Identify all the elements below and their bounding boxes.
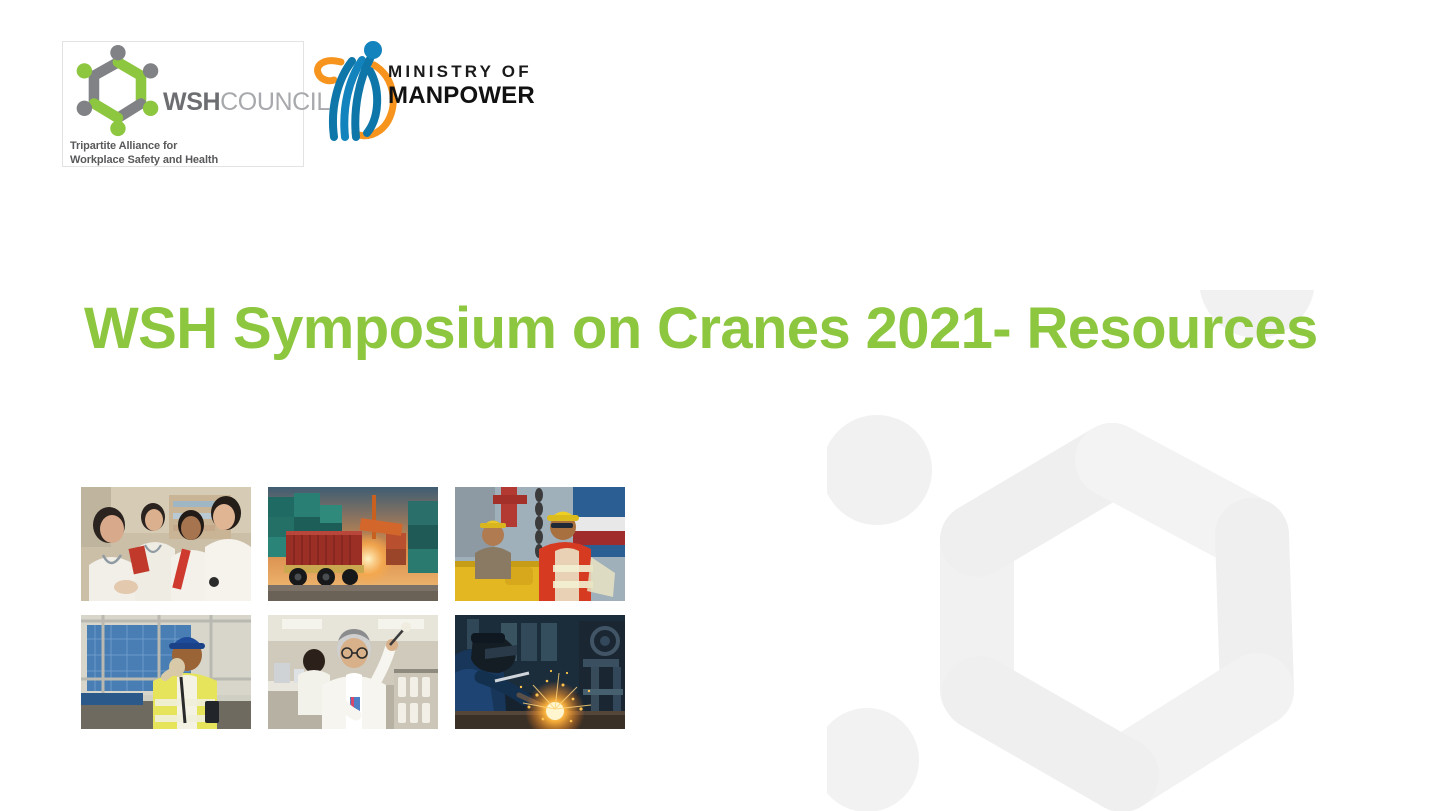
- photo-construction-worker: [81, 615, 251, 729]
- wsh-tagline-line-2: Workplace Safety and Health: [70, 153, 218, 167]
- photo-welder-sparks: [455, 615, 625, 729]
- ministry-of-manpower-logo: MINISTRY OF MANPOWER: [310, 41, 540, 145]
- wsh-council-logo: WSHCOUNCIL Tripartite Alliance for Workp…: [62, 41, 304, 167]
- photo-shipping-containers: [268, 487, 438, 601]
- photo-grid: [81, 487, 625, 729]
- slide-title: WSH Symposium on Cranes 2021- Resources: [84, 295, 1318, 362]
- wsh-tagline-line-1: Tripartite Alliance for: [70, 139, 218, 153]
- mom-wordmark: MINISTRY OF MANPOWER: [388, 63, 535, 108]
- wsh-hexagon-mark-icon: [69, 44, 165, 140]
- wsh-hexagon-watermark: [827, 290, 1437, 811]
- presentation-slide: WSHCOUNCIL Tripartite Alliance for Workp…: [0, 0, 1437, 811]
- photo-laboratory-scientist: [268, 615, 438, 729]
- wsh-wordmark-bold: WSH: [163, 88, 220, 116]
- photo-healthcare-workers: [81, 487, 251, 601]
- wsh-council-wordmark: WSHCOUNCIL: [163, 90, 330, 115]
- wsh-council-tagline: Tripartite Alliance for Workplace Safety…: [70, 139, 218, 167]
- mom-wordmark-line-2: MANPOWER: [388, 84, 535, 108]
- mom-wordmark-line-1: MINISTRY OF: [388, 63, 535, 80]
- photo-shipyard-crane-workers: [455, 487, 625, 601]
